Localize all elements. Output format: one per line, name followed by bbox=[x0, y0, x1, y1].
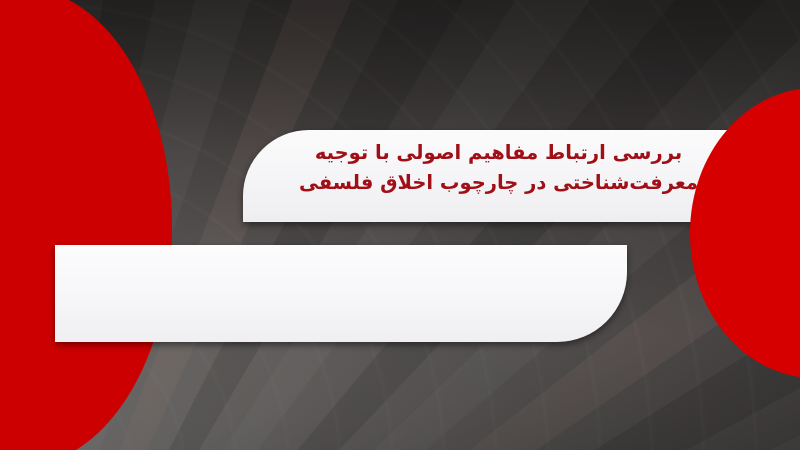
subtitle-panel bbox=[55, 245, 627, 342]
presentation-slide: بررسی ارتباط مفاهیم اصولی با توجیه معرفت… bbox=[0, 0, 800, 450]
subtitle-text bbox=[79, 255, 603, 332]
page-title: بررسی ارتباط مفاهیم اصولی با توجیه معرفت… bbox=[253, 138, 744, 197]
title-panel: بررسی ارتباط مفاهیم اصولی با توجیه معرفت… bbox=[243, 130, 748, 222]
